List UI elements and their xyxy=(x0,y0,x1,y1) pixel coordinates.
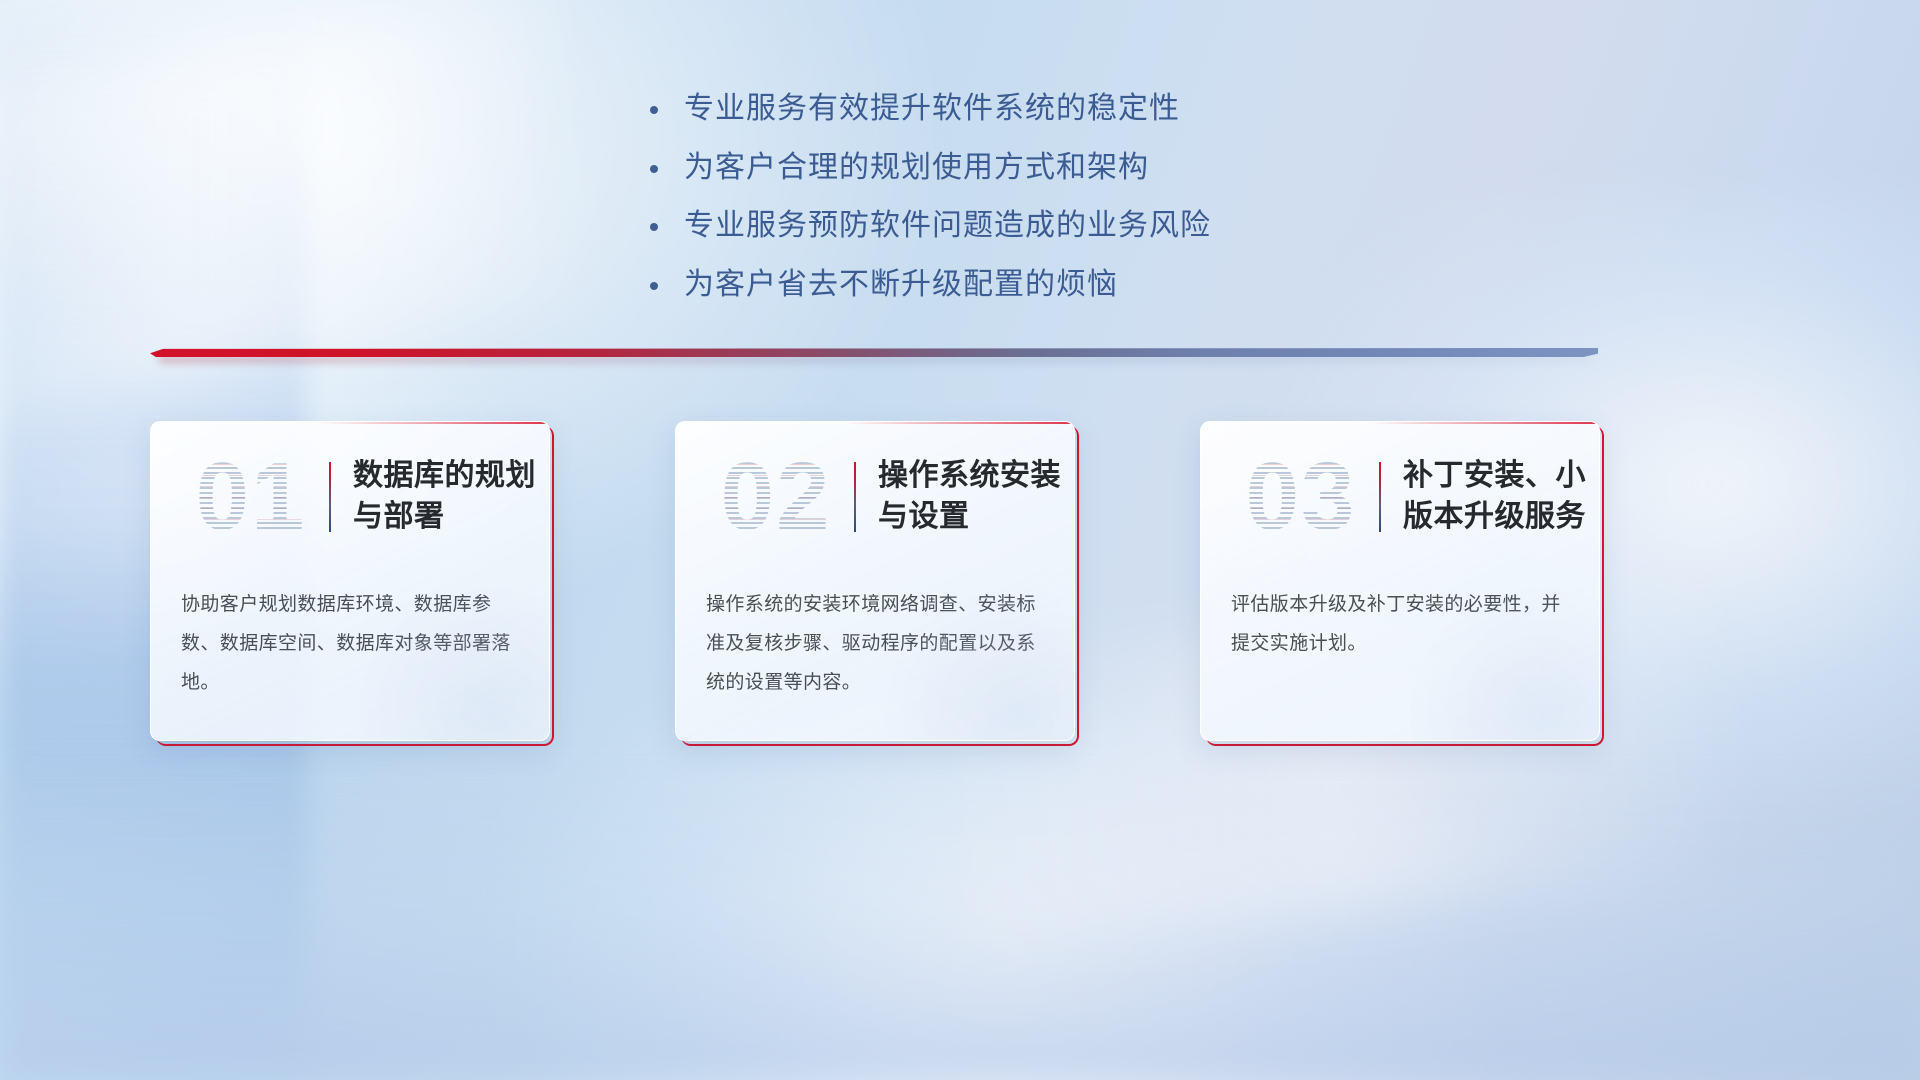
list-item: 专业服务有效提升软件系统的稳定性 xyxy=(650,88,1270,131)
card-number-shine: 02 xyxy=(706,442,846,552)
bullet-list: 专业服务有效提升软件系统的稳定性 为客户合理的规划使用方式和架构 专业服务预防软… xyxy=(0,88,1920,322)
card-title-divider xyxy=(329,462,331,532)
bullet-dot-icon xyxy=(650,223,658,231)
card-03[interactable]: 03 03 补丁安装、小版本升级服务 评估版本升级及补丁安装的必要性，并提交实施… xyxy=(1200,421,1600,741)
card-number-watermark: 02 02 xyxy=(706,442,846,552)
bullet-text: 专业服务有效提升软件系统的稳定性 xyxy=(684,88,1180,131)
card-title-divider xyxy=(1379,462,1381,532)
card-title-divider xyxy=(854,462,856,532)
card-number-shine: 01 xyxy=(181,442,321,552)
card-title: 操作系统安装与设置 xyxy=(878,456,1074,538)
bullet-text: 专业服务预防软件问题造成的业务风险 xyxy=(684,205,1211,248)
card-number-watermark: 03 03 xyxy=(1231,442,1371,552)
card-description: 操作系统的安装环境网络调查、安装标准及复核步骤、驱动程序的配置以及系统的设置等内… xyxy=(676,586,1074,703)
list-item: 为客户合理的规划使用方式和架构 xyxy=(650,147,1270,190)
section-divider xyxy=(150,342,1598,366)
card-02[interactable]: 02 02 操作系统安装与设置 操作系统的安装环境网络调查、安装标准及复核步骤、… xyxy=(675,421,1075,741)
card-surface: 01 01 数据库的规划与部署 协助客户规划数据库环境、数据库参数、数据库空间、… xyxy=(150,421,550,741)
bullet-dot-icon xyxy=(650,165,658,173)
card-surface: 03 03 补丁安装、小版本升级服务 评估版本升级及补丁安装的必要性，并提交实施… xyxy=(1200,421,1600,741)
card-description: 协助客户规划数据库环境、数据库参数、数据库空间、数据库对象等部署落地。 xyxy=(151,586,549,703)
divider-bar xyxy=(150,348,1598,357)
card-01[interactable]: 01 01 数据库的规划与部署 协助客户规划数据库环境、数据库参数、数据库空间、… xyxy=(150,421,550,741)
card-surface: 02 02 操作系统安装与设置 操作系统的安装环境网络调查、安装标准及复核步骤、… xyxy=(675,421,1075,741)
list-item: 专业服务预防软件问题造成的业务风险 xyxy=(650,205,1270,248)
divider-shadow xyxy=(159,356,1593,363)
list-item: 为客户省去不断升级配置的烦恼 xyxy=(650,264,1270,307)
bullet-dot-icon xyxy=(650,106,658,114)
card-header: 01 01 数据库的规划与部署 xyxy=(151,422,549,572)
card-number-shine: 03 xyxy=(1231,442,1371,552)
card-number-watermark: 01 01 xyxy=(181,442,321,552)
card-title: 补丁安装、小版本升级服务 xyxy=(1403,456,1599,538)
card-title: 数据库的规划与部署 xyxy=(353,456,549,538)
bullet-dot-icon xyxy=(650,282,658,290)
card-grid: 01 01 数据库的规划与部署 协助客户规划数据库环境、数据库参数、数据库空间、… xyxy=(150,421,1600,741)
card-header: 03 03 补丁安装、小版本升级服务 xyxy=(1201,422,1599,572)
bullet-text: 为客户省去不断升级配置的烦恼 xyxy=(684,264,1118,307)
card-description: 评估版本升级及补丁安装的必要性，并提交实施计划。 xyxy=(1201,586,1599,664)
card-header: 02 02 操作系统安装与设置 xyxy=(676,422,1074,572)
bullet-text: 为客户合理的规划使用方式和架构 xyxy=(684,147,1149,190)
